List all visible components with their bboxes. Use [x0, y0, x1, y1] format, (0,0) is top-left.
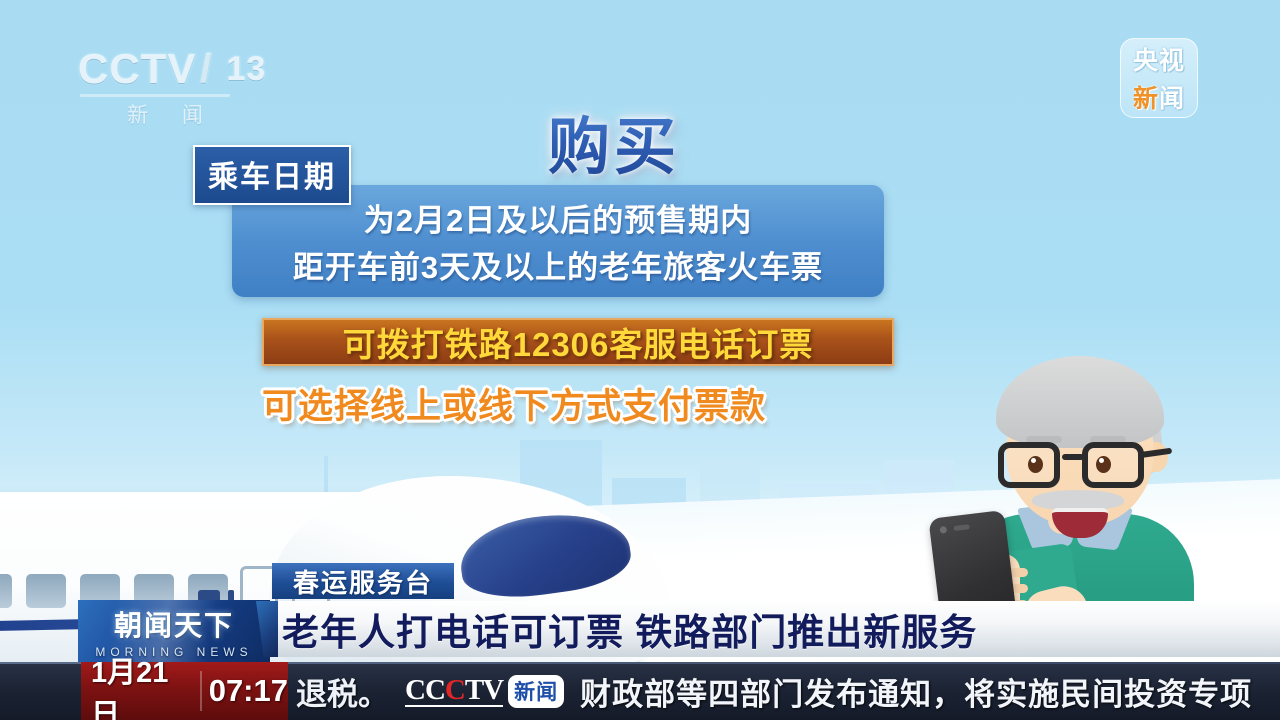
- travel-date-tag: 乘车日期: [193, 145, 351, 205]
- logo-underline: [80, 94, 230, 97]
- ticker-divider: [200, 671, 202, 711]
- elderly-man-illustration: [930, 338, 1230, 638]
- headline-text: 老年人打电话可订票 铁路部门推出新服务: [268, 602, 977, 656]
- ticker-clock: 07:17: [209, 673, 288, 709]
- ticker-cc: CC: [405, 674, 445, 706]
- logo-slash: /: [200, 47, 212, 92]
- watermark-line-1: 央视: [1133, 41, 1185, 77]
- cctv-logo-sub: 新 闻: [78, 99, 258, 129]
- ticker-cctv-mark: CCCTV: [405, 676, 503, 707]
- headline-bar: 老年人打电话可订票 铁路部门推出新服务: [268, 601, 1280, 657]
- broadcast-frame: CCTV / 13 新 闻 央视 新闻 购买 乘车日期 为2月2日及以后的预售期…: [0, 0, 1280, 720]
- watermark-line-2: 新闻: [1133, 79, 1185, 115]
- gray-hair: [996, 356, 1164, 448]
- cctv-logo-text: CCTV: [78, 45, 196, 93]
- info-line-2: 距开车前3天及以上的老年旅客火车票: [293, 242, 823, 287]
- section-tag-text: 春运服务台: [293, 563, 433, 600]
- ticker-news-badge: 新闻: [508, 675, 564, 708]
- eyeglasses-icon: [998, 442, 1166, 488]
- section-tag: 春运服务台: [272, 563, 454, 599]
- highlight-bar: 可拨打铁路12306客服电话订票: [262, 318, 894, 366]
- cctv-logo-number: 13: [216, 50, 266, 89]
- cctv-news-watermark: 央视 新闻: [1120, 38, 1198, 118]
- highlight-bar-text: 可拨打铁路12306客服电话订票: [343, 318, 814, 366]
- ticker-headline-text: 财政部等四部门发布通知，将实施民间投资专项: [580, 669, 1252, 714]
- watermark-xin: 新: [1133, 85, 1159, 113]
- ticker-preceding-text: 退税。: [296, 669, 389, 714]
- highlight-line: 可选择线上或线下方式支付票款: [262, 378, 766, 429]
- ticker-date: 1月21日: [81, 649, 193, 720]
- cctv-news-inline-logo: CCCTV 新闻: [405, 675, 564, 708]
- info-line-1: 为2月2日及以后的预售期内: [364, 195, 752, 240]
- watermark-wen: 闻: [1159, 85, 1185, 113]
- ticker-cc-red: C: [445, 674, 465, 706]
- graphic-title: 购买: [548, 96, 680, 186]
- ticker-content: 退税。 CCCTV 新闻 财政部等四部门发布通知，将实施民间投资专项: [296, 662, 1252, 720]
- ticker-tv: TV: [465, 674, 503, 706]
- mustache: [1032, 490, 1124, 510]
- ticker-time-box: 1月21日 07:17: [81, 662, 288, 720]
- cctv13-channel-logo: CCTV / 13 新 闻: [78, 45, 258, 125]
- program-name-cn: 朝闻天下: [114, 604, 234, 644]
